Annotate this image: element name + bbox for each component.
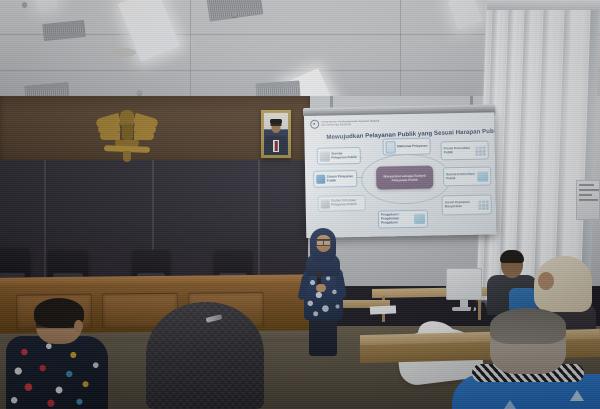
forum-icon bbox=[475, 145, 486, 155]
slide-node-forum-konsultasi-publik: Forum Konsultasi Publik bbox=[441, 140, 489, 160]
ceiling-light-panel bbox=[448, 0, 483, 30]
presenter-glasses bbox=[316, 239, 331, 244]
audience-man-blue bbox=[460, 312, 600, 409]
air-vent bbox=[42, 20, 86, 41]
presenter-legs bbox=[309, 316, 337, 356]
ministry-seal-icon bbox=[310, 120, 319, 129]
slide-node-maklumat-pelayanan: Maklumat Pelayanan bbox=[382, 138, 430, 156]
slide-node-label: Sistem Informasi Pelayanan Publik bbox=[331, 199, 363, 207]
official-portrait bbox=[261, 110, 291, 158]
standard-icon bbox=[320, 151, 330, 161]
projection-screen: Kementerian Pendayagunaan Aparatur Negar… bbox=[304, 112, 496, 238]
audience-man-batik bbox=[6, 300, 110, 409]
shirt-logo bbox=[570, 390, 584, 401]
logo-line-2: dan Reformasi Birokrasi bbox=[321, 123, 379, 127]
batik-shirt bbox=[6, 336, 108, 409]
desktop-monitor bbox=[446, 268, 482, 314]
paper-on-desk bbox=[370, 305, 396, 314]
info-icon bbox=[321, 199, 330, 208]
slide-ministry-logo: Kementerian Pendayagunaan Aparatur Negar… bbox=[310, 119, 379, 129]
slide-node-label: Standar Pelayanan Publik bbox=[331, 152, 358, 160]
air-vent bbox=[207, 0, 264, 22]
presentation-slide: Kementerian Pendayagunaan Aparatur Negar… bbox=[304, 112, 496, 238]
slide-center-node: Masyarakat sebagai Subyek Pelayanan Publ… bbox=[376, 166, 433, 190]
slide-node-label: Sarana Komunikasi Publik bbox=[446, 173, 476, 181]
complaint-icon bbox=[414, 214, 425, 224]
slide-node-standar-pelayanan-publik: Standar Pelayanan Publik bbox=[317, 147, 361, 165]
presenter-speaker bbox=[296, 228, 352, 354]
wall-poster bbox=[576, 180, 600, 220]
slide-node-sistem-informasi-pelayanan-publik: Sistem Informasi Pelayanan Publik bbox=[318, 195, 366, 212]
slide-node-label: Sistem Pelayanan Publik bbox=[327, 175, 355, 183]
document-icon bbox=[385, 141, 395, 153]
blinds-rail bbox=[487, 0, 600, 10]
slide-node-label: Forum Konsultasi Publik bbox=[444, 147, 474, 155]
slide-node-label: Pengaduan / Pengelolaan Pengaduan bbox=[381, 213, 413, 225]
ceiling-light-panel bbox=[33, 0, 59, 13]
ear bbox=[74, 320, 83, 332]
shirt-logo bbox=[504, 400, 516, 409]
slide-node-label: Survei Kepuasan Masyarakat bbox=[445, 201, 477, 209]
audience-woman-dark-hijab bbox=[146, 302, 264, 409]
slide-node-pengaduan: Pengaduan / Pengelolaan Pengaduan bbox=[378, 210, 428, 229]
audience-man-laptop bbox=[485, 252, 541, 314]
seminar-room-photo: Kementerian Pendayagunaan Aparatur Negar… bbox=[0, 0, 600, 409]
microphone-head bbox=[316, 271, 323, 278]
slide-center-label: Masyarakat sebagai Subyek Pelayanan Publ… bbox=[376, 173, 433, 182]
communication-icon bbox=[477, 171, 488, 181]
slide-node-label: Maklumat Pelayanan bbox=[397, 144, 428, 148]
smoke-detector bbox=[112, 48, 136, 57]
slide-node-survei-kepuasan-masyarakat: Survei Kepuasan Masyarakat bbox=[442, 194, 492, 215]
system-icon bbox=[316, 175, 325, 184]
survey-icon bbox=[478, 199, 489, 209]
sprinkler-head bbox=[232, 12, 237, 17]
sprinkler-head bbox=[137, 90, 142, 95]
garuda-pancasila-emblem bbox=[96, 108, 158, 164]
slide-node-sarana-komunikasi-publik: Sarana Komunikasi Publik bbox=[443, 166, 491, 186]
sprinkler-head bbox=[22, 2, 27, 7]
hair bbox=[490, 308, 566, 344]
slide-node-sistem-pelayanan-publik: Sistem Pelayanan Publik bbox=[313, 170, 357, 188]
presenter-hand bbox=[316, 284, 326, 292]
